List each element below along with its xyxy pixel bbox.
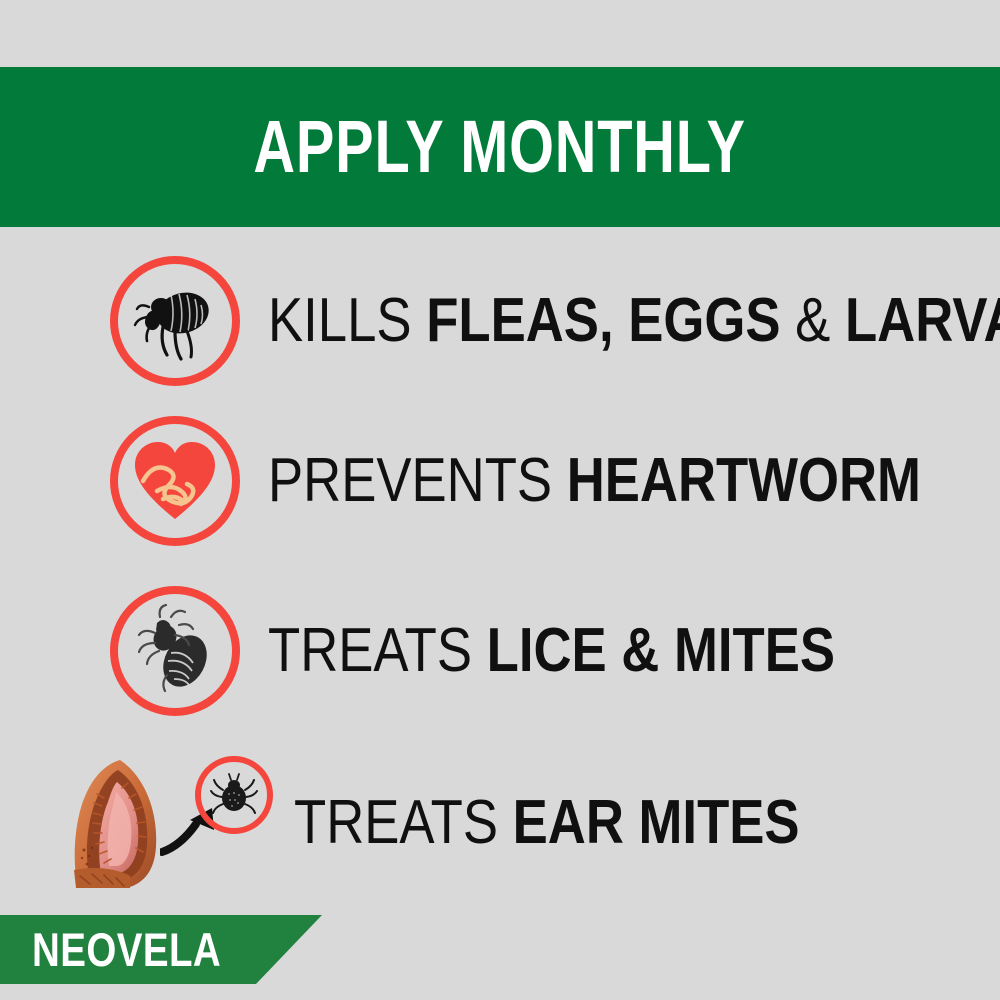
brand-banner: NEOVELA: [0, 915, 330, 984]
feature-row-ear-mites: TREATS EAR MITES: [0, 748, 1000, 898]
flea-icon: [110, 256, 240, 386]
ear-mite-icon: [195, 756, 273, 834]
brand-name: NEOVELA: [32, 926, 221, 973]
feature-label-light-2: &: [781, 286, 845, 355]
feature-label-lice: TREATS LICE & MITES: [268, 620, 835, 682]
infographic-canvas: APPLY MONTHLY: [0, 0, 1000, 1000]
feature-label-bold: LICE & MITES: [487, 616, 835, 685]
header-band: APPLY MONTHLY: [0, 67, 1000, 227]
feature-label-bold: FLEAS, EGGS: [426, 286, 780, 355]
feature-label-fleas: KILLS FLEAS, EGGS & LARVAE: [268, 290, 1000, 352]
feature-row-lice: TREATS LICE & MITES: [0, 586, 1000, 716]
feature-label-bold-2: LARVAE: [845, 286, 1000, 355]
dog-ear-illustration: [70, 758, 162, 890]
feature-label-bold: EAR MITES: [513, 788, 800, 857]
feature-label-heartworm: PREVENTS HEARTWORM: [268, 450, 921, 512]
feature-label-light: TREATS: [268, 616, 487, 685]
feature-row-fleas: KILLS FLEAS, EGGS & LARVAE: [0, 256, 1000, 386]
feature-label-light: TREATS: [294, 788, 513, 857]
louse-icon: [110, 586, 240, 716]
feature-label-ear-mites: TREATS EAR MITES: [294, 792, 800, 854]
feature-list: KILLS FLEAS, EGGS & LARVAE PREVENTS HEAR…: [0, 240, 1000, 900]
feature-row-heartworm: PREVENTS HEARTWORM: [0, 416, 1000, 546]
ear-mite-illustration-group: [60, 748, 272, 898]
feature-label-bold: HEARTWORM: [567, 446, 921, 515]
page-title: APPLY MONTHLY: [254, 110, 746, 184]
feature-label-light: KILLS: [268, 286, 426, 355]
feature-label-light: PREVENTS: [268, 446, 567, 515]
heartworm-icon: [110, 416, 240, 546]
